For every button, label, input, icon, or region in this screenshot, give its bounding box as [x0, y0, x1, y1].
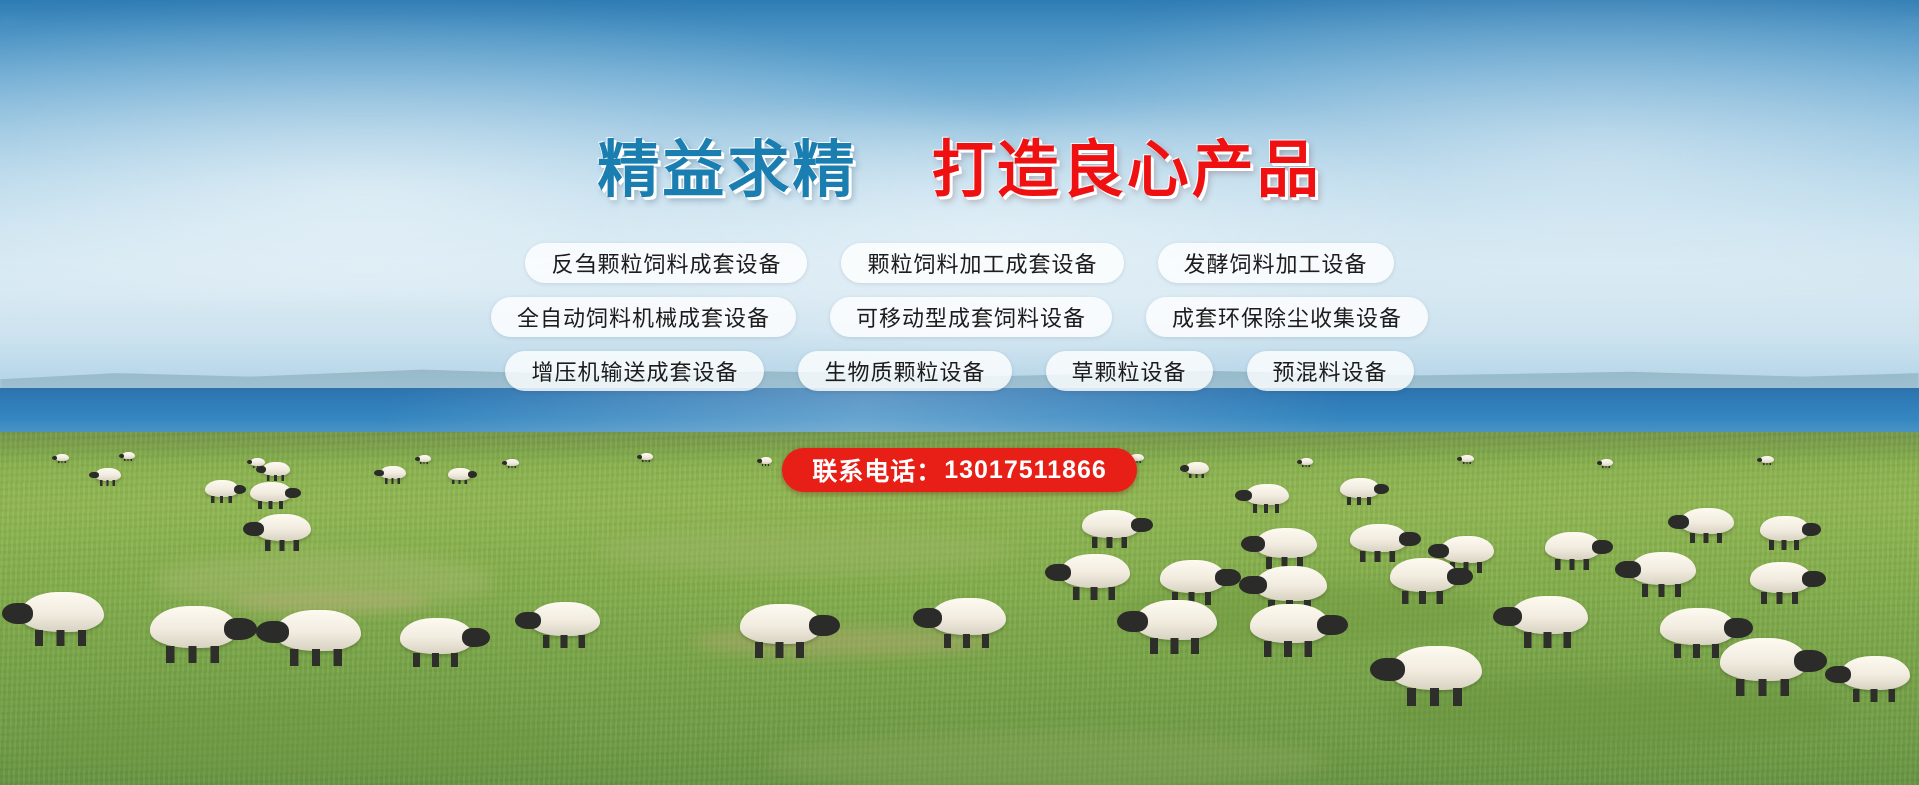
- sheep: [400, 618, 474, 654]
- sheep: [255, 514, 311, 541]
- product-pill[interactable]: 颗粒饲料加工成套设备: [841, 243, 1123, 283]
- sheep: [1255, 528, 1317, 558]
- product-pill[interactable]: 生物质颗粒设备: [798, 351, 1011, 391]
- sheep: [1840, 656, 1910, 690]
- sheep: [1630, 552, 1696, 585]
- dirt-patch: [230, 592, 430, 612]
- sheep: [1390, 646, 1482, 690]
- headline-blue-text: 精益求精: [597, 136, 857, 205]
- sheep: [1135, 600, 1217, 640]
- sheep: [930, 598, 1006, 635]
- sheep: [1760, 516, 1810, 541]
- contact-phone-pill[interactable]: 联系电话：13017511866: [782, 448, 1137, 492]
- contact-banner: 联系电话：13017511866: [0, 448, 1919, 492]
- sheep: [1082, 510, 1140, 538]
- sheep: [1510, 596, 1588, 634]
- sheep: [1255, 566, 1327, 601]
- sheep: [1720, 638, 1808, 681]
- product-pill[interactable]: 全自动饲料机械成套设备: [491, 297, 796, 337]
- sheep: [1660, 608, 1736, 645]
- sheep: [1440, 536, 1494, 563]
- product-category-list: 反刍颗粒饲料成套设备 颗粒饲料加工成套设备 发酵饲料加工设备 全自动饲料机械成套…: [0, 243, 1919, 405]
- contact-number: 13017511866: [944, 456, 1107, 485]
- sheep: [1250, 604, 1330, 643]
- sheep: [150, 606, 238, 648]
- sheep: [1680, 508, 1734, 534]
- product-pill[interactable]: 成套环保除尘收集设备: [1146, 297, 1428, 337]
- product-row-1: 反刍颗粒饲料成套设备 颗粒饲料加工成套设备 发酵饲料加工设备: [0, 243, 1919, 283]
- product-row-2: 全自动饲料机械成套设备 可移动型成套饲料设备 成套环保除尘收集设备: [0, 297, 1919, 337]
- product-row-3: 增压机输送成套设备 生物质颗粒设备 草颗粒设备 预混料设备: [0, 351, 1919, 391]
- product-pill[interactable]: 草颗粒设备: [1046, 351, 1213, 391]
- headline-red-text: 打造良心产品: [932, 136, 1322, 205]
- sheep: [1060, 554, 1130, 588]
- headline: 精益求精 打造良心产品: [0, 140, 1919, 202]
- contact-label: 联系电话：: [812, 452, 942, 488]
- sheep: [1350, 524, 1408, 552]
- product-pill[interactable]: 反刍颗粒饲料成套设备: [525, 243, 807, 283]
- sheep: [275, 610, 361, 651]
- sheep: [1160, 560, 1226, 593]
- promo-banner: 精益求精 打造良心产品 反刍颗粒饲料成套设备 颗粒饲料加工成套设备 发酵饲料加工…: [0, 0, 1919, 785]
- product-pill[interactable]: 预混料设备: [1247, 351, 1414, 391]
- grass-patch: [38, 702, 558, 776]
- sheep: [1545, 532, 1601, 560]
- grass-patch: [595, 527, 1015, 575]
- product-pill[interactable]: 增压机输送成套设备: [505, 351, 764, 391]
- sheep: [740, 604, 822, 644]
- sheep: [530, 602, 600, 636]
- sheep: [20, 592, 104, 632]
- product-pill[interactable]: 发酵饲料加工设备: [1158, 243, 1394, 283]
- sheep: [1390, 558, 1458, 592]
- sheep: [1750, 562, 1812, 593]
- grass-patch: [768, 732, 1328, 785]
- product-pill[interactable]: 可移动型成套饲料设备: [830, 297, 1112, 337]
